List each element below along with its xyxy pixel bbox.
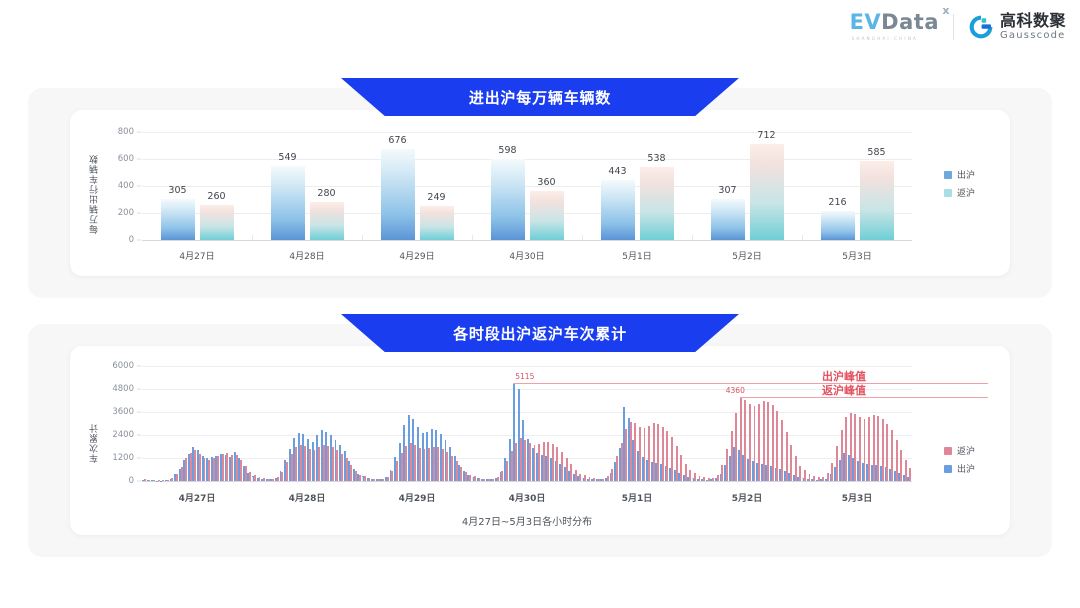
chart2-bar-back-14 (208, 460, 210, 481)
chart2-bar-back-119 (689, 470, 691, 481)
chart2-bar-back-77 (497, 477, 499, 481)
chart2-bar-back-71 (469, 475, 471, 481)
chart2-ytick-0: 0 (102, 476, 134, 486)
chart2-bar-back-63 (433, 447, 435, 482)
chart2-slot-back-39 (323, 366, 325, 481)
chart2-slot-back-45 (350, 366, 352, 481)
chart2-slot-back-7 (176, 366, 178, 481)
chart2-slot-back-29 (277, 366, 279, 481)
chart2-bar-back-147 (818, 477, 820, 481)
chart2-bar-back-155 (854, 414, 856, 481)
chart2-bar-back-167 (909, 468, 911, 481)
chart1-xlabel-4: 5月1日 (622, 249, 651, 262)
chart1-barvalue-出沪-4月28日: 549 (278, 152, 296, 163)
chart2-slot-back-71 (469, 366, 471, 481)
chart2-slot-back-4 (162, 366, 164, 481)
chart1-bar-group-4-1 (640, 132, 674, 240)
chart2-bar-back-152 (841, 430, 843, 481)
chart2-slot-back-80 (511, 366, 513, 481)
chart2-bar-back-141 (790, 445, 792, 481)
chart2-bar-back-86 (538, 444, 540, 481)
chart2-slot-back-56 (401, 366, 403, 481)
chart2-slot-back-73 (479, 366, 481, 481)
chart2-bar-back-50 (373, 479, 375, 481)
chart2-slot-back-9 (185, 366, 187, 481)
chart2-slot-back-23 (249, 366, 251, 481)
chart1-xlabel-6: 5月3日 (842, 249, 871, 262)
banner-title-2: 各时段出沪返沪车次累计 (453, 323, 627, 344)
chart1-xsep-6 (802, 235, 803, 240)
chart2-slot-back-24 (254, 366, 256, 481)
chart2-legend-label-出沪: 出沪 (957, 462, 975, 475)
chart1-legend-item-返沪[interactable]: 返沪 (944, 186, 975, 199)
chart1-bar-group-0-1 (200, 132, 234, 240)
chart2-slot-back-51 (378, 366, 380, 481)
chart2-bar-back-101 (607, 476, 609, 481)
chart2-bar-back-15 (213, 458, 215, 481)
chart2-bar-back-146 (813, 476, 815, 481)
chart2-ytick-mark-4800 (137, 389, 141, 390)
chart2-bar-back-68 (456, 461, 458, 481)
chart2-bar-back-139 (781, 420, 783, 481)
chart2-slot-back-14 (208, 366, 210, 481)
chart1-legend-swatch-出沪 (944, 171, 952, 179)
chart2-bar-back-136 (767, 402, 769, 481)
chart2-slot-back-49 (369, 366, 371, 481)
evdata-prefix: EV (850, 10, 882, 34)
chart2-bar-back-82 (520, 438, 522, 481)
chart2-bar-back-28 (272, 479, 274, 481)
chart2-bar-back-73 (479, 478, 481, 481)
chart2-xlabel-1: 4月28日 (289, 491, 326, 504)
chart2-bar-back-165 (900, 450, 902, 481)
chart1-bar-返沪-5月2日 (750, 144, 784, 240)
chart2-bar-back-111 (653, 423, 655, 481)
chart2-bar-back-130 (740, 397, 742, 481)
chart2-bar-back-104 (621, 443, 623, 481)
chart2-bar-back-78 (501, 471, 503, 481)
chart2-bar-back-18 (226, 453, 228, 481)
chart2-bar-back-8 (181, 467, 183, 481)
chart2-bar-back-13 (204, 458, 206, 481)
chart2-bar-back-138 (776, 411, 778, 481)
chart2-bar-back-108 (639, 427, 641, 481)
chart1-bar-group-4-0 (601, 132, 635, 240)
chart2-bar-back-39 (323, 445, 325, 481)
chart2-slot-back-37 (314, 366, 316, 481)
chart2-bar-back-40 (327, 446, 329, 481)
chart2-bar-back-99 (598, 479, 600, 481)
chart1-ytick-200: 200 (106, 208, 134, 218)
chart2-slot-back-8 (181, 366, 183, 481)
chart2-bar-back-132 (749, 404, 751, 481)
chart2-legend-item-出沪[interactable]: 出沪 (944, 462, 975, 475)
chart2-bar-back-123 (708, 478, 710, 481)
chart2-bar-back-89 (552, 444, 554, 481)
chart2-bar-back-51 (378, 479, 380, 481)
chart2-slot-back-22 (245, 366, 247, 481)
chart2-slot-back-11 (194, 366, 196, 481)
chart2-bar-back-87 (543, 442, 545, 481)
chart2-slot-back-26 (263, 366, 265, 481)
chart1-bar-group-2-0 (381, 132, 415, 240)
chart1-barvalue-返沪-5月1日: 538 (647, 153, 665, 164)
chart2-bar-back-46 (355, 471, 357, 481)
chart1-xsep-3 (472, 235, 473, 240)
chart1-bar-出沪-4月28日 (271, 166, 305, 240)
chart2-bar-back-58 (410, 443, 412, 481)
chart2-bar-back-2 (153, 480, 155, 481)
chart2-bar-back-160 (877, 416, 879, 481)
chart1-barvalue-出沪-4月27日: 305 (168, 185, 186, 196)
chart2-slot-back-32 (291, 366, 293, 481)
chart2-ytick-3600: 3600 (102, 407, 134, 417)
chart1-bar-出沪-5月3日 (821, 211, 855, 240)
chart2-slot-back-57 (405, 366, 407, 481)
chart2-bar-back-20 (236, 455, 238, 481)
chart2-bar-back-6 (171, 478, 173, 481)
chart1-barvalue-返沪-4月29日: 249 (427, 192, 445, 203)
gausscode-cn: 高科数聚 (1000, 13, 1066, 29)
chart2-slot-back-25 (259, 366, 261, 481)
chart2-bar-back-80 (511, 451, 513, 481)
chart2-bar-back-5 (167, 480, 169, 481)
chart1-xsep-5 (692, 235, 693, 240)
chart1-ylabel: 每万辆出行车辆数 (88, 138, 101, 234)
chart2-bar-back-9 (185, 458, 187, 481)
chart2-ytick-mark-2400 (137, 435, 141, 436)
chart1-gridline-400 (142, 186, 912, 187)
chart2-bar-back-43 (341, 454, 343, 481)
chart2-peakvalue-out: 5115 (515, 372, 534, 381)
chart2-ytick-1200: 1200 (102, 453, 134, 463)
chart2-bar-back-37 (314, 450, 316, 481)
chart2-bar-back-129 (735, 413, 737, 481)
chart2-bar-back-109 (644, 428, 646, 481)
chart2-bar-back-163 (891, 430, 893, 481)
chart2-bar-back-142 (795, 456, 797, 481)
chart2-slot-back-28 (272, 366, 274, 481)
chart2-bar-back-32 (291, 454, 293, 481)
chart2-bar-back-93 (570, 464, 572, 481)
chart1-bar-返沪-4月29日 (420, 206, 454, 240)
evdata-wordmark: EVDatax (850, 12, 939, 33)
chart2-slot-back-59 (414, 366, 416, 481)
evdata-superscript: x (942, 5, 950, 16)
chart1-barvalue-出沪-4月30日: 598 (498, 145, 516, 156)
chart2-xlabel-0: 4月27日 (179, 491, 216, 504)
chart2-bar-back-96 (584, 475, 586, 481)
chart2-bar-back-114 (666, 431, 668, 481)
chart2-bar-back-161 (882, 419, 884, 481)
chart2-bar-back-69 (460, 467, 462, 481)
chart2-slot-back-77 (497, 366, 499, 481)
gausscode-logo: 高科数聚 Gausscode (968, 13, 1066, 41)
chart1-bar-返沪-4月30日 (530, 191, 564, 240)
chart1-ytick-mark-0 (137, 240, 141, 241)
chart1-bar-出沪-4月27日 (161, 199, 195, 240)
chart2-bar-back-164 (896, 440, 898, 481)
chart2-bar-back-22 (245, 466, 247, 481)
chart2-ytick-mark-6000 (137, 366, 141, 367)
chart2-bar-back-57 (405, 446, 407, 481)
chart2-bar-back-144 (804, 470, 806, 481)
chart2-bar-back-151 (836, 446, 838, 481)
chart2-xcaption: 4月27日~5月3日各小时分布 (462, 513, 592, 528)
chart1-barvalue-出沪-4月29日: 676 (388, 135, 406, 146)
chart2-bar-back-47 (359, 475, 361, 481)
chart2-bar-back-125 (717, 475, 719, 481)
chart2-bar-back-143 (799, 466, 801, 481)
chart2-bar-back-4 (162, 480, 164, 481)
chart2-bar-back-121 (699, 476, 701, 481)
chart2-bar-back-83 (524, 440, 526, 481)
chart2-bar-back-117 (680, 455, 682, 481)
chart2-bar-back-107 (634, 423, 636, 481)
chart2-slot-back-58 (410, 366, 412, 481)
chart2-slot-back-48 (364, 366, 366, 481)
chart2-slot-back-30 (281, 366, 283, 481)
chart2-bar-back-11 (194, 450, 196, 481)
chart2-bar-back-79 (506, 461, 508, 481)
chart1-bar-group-2-1 (420, 132, 454, 240)
chart2-bar-back-70 (465, 472, 467, 481)
chart2-xlabel-2: 4月29日 (399, 491, 436, 504)
chart2-bar-back-25 (259, 477, 261, 481)
gausscode-text: 高科数聚 Gausscode (1000, 13, 1066, 41)
chart2-slot-back-69 (460, 366, 462, 481)
chart2-bar-back-94 (575, 470, 577, 481)
chart2-slot-back-18 (226, 366, 228, 481)
chart1-legend: 出沪返沪 (944, 168, 975, 199)
chart2-bar-back-91 (561, 452, 563, 481)
chart2-bar-back-162 (886, 424, 888, 482)
evdata-logo: EVDatax SHANGHAI CHINA (850, 12, 939, 41)
chart2-bar-back-140 (786, 432, 788, 481)
chart2-slot-back-67 (451, 366, 453, 481)
chart2-xlabel-5: 5月2日 (732, 491, 763, 504)
chart2-bar-back-12 (199, 454, 201, 481)
chart2-bar-back-53 (387, 477, 389, 481)
chart2-bar-back-74 (483, 479, 485, 481)
chart2-slot-back-31 (286, 366, 288, 481)
chart2-bar-back-45 (350, 465, 352, 481)
chart2-slot-back-46 (355, 366, 357, 481)
chart1-bar-group-1-0 (271, 132, 305, 240)
chart2-bar-back-100 (602, 479, 604, 481)
chart2-slot-back-17 (222, 366, 224, 481)
chart2-ylabel: 车次累计 (88, 384, 101, 463)
chart2-bar-back-29 (277, 477, 279, 481)
chart2-slot-back-42 (336, 366, 338, 481)
chart2-slot-back-38 (318, 366, 320, 481)
chart2-bar-back-55 (396, 461, 398, 481)
panel-vehicle-counts: 每万辆出行车辆数02004006008004月27日3052604月28日549… (28, 88, 1052, 298)
chart2-slot-back-63 (433, 366, 435, 481)
chart1-barvalue-返沪-5月2日: 712 (757, 130, 775, 141)
chart2-xlabel-4: 5月1日 (622, 491, 653, 504)
chart2-slot-back-19 (231, 366, 233, 481)
chart2-slot-back-16 (217, 366, 219, 481)
chart1-bar-出沪-5月2日 (711, 199, 745, 240)
chart2-bar-back-145 (809, 474, 811, 481)
chart2-slot-back-21 (240, 366, 242, 481)
chart1-xsep-4 (582, 235, 583, 240)
chart2-xsep-5 (692, 477, 693, 481)
chart2-axis-x (142, 481, 912, 482)
chart2-xlabel-6: 5月3日 (842, 491, 873, 504)
chart2-legend-swatch-出沪 (944, 465, 952, 473)
chart2-bar-back-126 (721, 465, 723, 481)
chart2-slot-back-65 (442, 366, 444, 481)
chart2-bar-back-41 (332, 447, 334, 481)
chart2-slot-back-13 (204, 366, 206, 481)
chart2-legend-swatch-返沪 (944, 447, 952, 455)
chart2-bar-back-102 (611, 469, 613, 481)
chart2-bar-back-33 (295, 447, 297, 481)
chart1-ytick-400: 400 (106, 181, 134, 191)
chart2-slot-back-33 (295, 366, 297, 481)
chart1-bar-group-5-1 (750, 132, 784, 240)
chart2-bar-back-110 (648, 426, 650, 481)
chart2-bar-back-19 (231, 455, 233, 481)
chart2-bar-back-60 (419, 448, 421, 481)
chart2-slot-back-1 (149, 366, 151, 481)
chart2-bar-back-24 (254, 475, 256, 481)
chart1-xsep-1 (252, 235, 253, 240)
chart1-barvalue-返沪-5月3日: 585 (867, 147, 885, 158)
dashboard-root: EVDatax SHANGHAI CHINA 高科数聚 Gausscode 每万… (0, 0, 1080, 608)
chart2-ytick-4800: 4800 (102, 384, 134, 394)
chart2-xsep-6 (802, 477, 803, 481)
chart2-bar-back-120 (694, 473, 696, 481)
chart1-ytick-0: 0 (106, 235, 134, 245)
chart1-barvalue-出沪-5月3日: 216 (828, 197, 846, 208)
chart2-bar-back-131 (744, 400, 746, 481)
chart1-gridline-600 (142, 159, 912, 160)
chart2-bar-back-66 (446, 452, 448, 481)
chart2-bar-back-52 (382, 479, 384, 481)
chart2-bar-back-103 (616, 456, 618, 481)
chart2-bar-back-64 (437, 447, 439, 481)
chart1-bar-返沪-4月28日 (310, 202, 344, 240)
evdata-subtitle: SHANGHAI CHINA (852, 36, 918, 41)
chart1-legend-swatch-返沪 (944, 189, 952, 197)
chart2-bar-back-133 (754, 406, 756, 481)
chart1-barvalue-出沪-5月2日: 307 (718, 185, 736, 196)
chart1-barvalue-出沪-5月1日: 443 (608, 166, 626, 177)
chart2-bar-back-115 (671, 437, 673, 481)
chart1-gridline-200 (142, 213, 912, 214)
chart2-bar-back-36 (309, 449, 311, 481)
chart2-bar-back-54 (391, 471, 393, 481)
chart2-slot-back-35 (304, 366, 306, 481)
chart2-bar-back-135 (763, 401, 765, 481)
chart2-slot-back-66 (446, 366, 448, 481)
chart2-bar-back-34 (300, 445, 302, 481)
gausscode-en: Gausscode (1000, 31, 1066, 41)
chart2-ytick-6000: 6000 (102, 361, 134, 371)
chart1-bar-group-6-0 (821, 132, 855, 240)
chart2-slot-back-34 (300, 366, 302, 481)
chart2-bar-back-92 (566, 458, 568, 481)
chart2-bar-back-65 (442, 449, 444, 481)
chart1-ytick-mark-600 (137, 159, 141, 160)
chart1-ytick-800: 800 (106, 127, 134, 137)
chart2-bar-back-76 (492, 479, 494, 481)
chart2-bar-back-84 (529, 443, 531, 481)
chart2-bar-back-81 (515, 443, 517, 481)
chart2-bar-back-158 (868, 417, 870, 481)
chart2-slot-back-36 (309, 366, 311, 481)
chart1-xlabel-2: 4月29日 (399, 249, 434, 262)
banner-chart-2: 各时段出沪返沪车次累计 (341, 314, 739, 352)
chart2-ytick-mark-1200 (137, 458, 141, 459)
chart2-bar-back-134 (758, 404, 760, 481)
chart2-slot-back-60 (419, 366, 421, 481)
chart2-bar-back-112 (657, 424, 659, 481)
chart1-barvalue-返沪-4月27日: 260 (207, 191, 225, 202)
chart2-bar-back-75 (488, 479, 490, 481)
chart2-slot-back-6 (171, 366, 173, 481)
banner-chart-1: 进出沪每万辆车辆数 (341, 78, 739, 116)
chart2-slot-back-41 (332, 366, 334, 481)
chart2-bar-back-124 (712, 478, 714, 481)
chart2-ytick-mark-0 (137, 481, 141, 482)
chart1-ytick-600: 600 (106, 154, 134, 164)
chart2-bar-back-30 (281, 472, 283, 481)
chart2-slot-back-20 (236, 366, 238, 481)
chart1-legend-item-出沪[interactable]: 出沪 (944, 168, 975, 181)
chart2-bar-back-56 (401, 453, 403, 481)
chart1-ytick-mark-400 (137, 186, 141, 187)
chart1-bar-返沪-5月1日 (640, 167, 674, 240)
chart2-ytick-2400: 2400 (102, 430, 134, 440)
chart2-bar-back-62 (428, 448, 430, 481)
chart2-bar-back-44 (346, 458, 348, 481)
chart2-bar-back-10 (190, 453, 192, 481)
chart2-slot-back-76 (492, 366, 494, 481)
chart2-slot-back-47 (359, 366, 361, 481)
chart2-bar-back-38 (318, 447, 320, 481)
chart2-legend-item-返沪[interactable]: 返沪 (944, 444, 975, 457)
chart1-bar-出沪-4月30日 (491, 159, 525, 240)
chart2-bar-back-156 (859, 417, 861, 481)
chart2-bar-back-88 (547, 442, 549, 481)
chart2-bar-back-149 (827, 473, 829, 481)
chart2-bar-back-122 (703, 477, 705, 481)
chart1-xlabel-0: 4月27日 (179, 249, 214, 262)
chart2-ytick-mark-3600 (137, 412, 141, 413)
chart2-slot-back-43 (341, 366, 343, 481)
chart2-peaklabel-back: 返沪峰值 (822, 382, 866, 398)
chart2-bar-back-95 (579, 474, 581, 481)
chart2-bar-back-42 (336, 450, 338, 481)
chart2-slot-back-64 (437, 366, 439, 481)
chart1-xsep-2 (362, 235, 363, 240)
chart2-bar-back-72 (474, 476, 476, 481)
chart2-bar-back-49 (369, 478, 371, 481)
chart1-bar-返沪-4月27日 (200, 205, 234, 240)
chart2-slot-back-79 (506, 366, 508, 481)
chart1-xlabel-5: 5月2日 (732, 249, 761, 262)
chart2-slot-back-54 (391, 366, 393, 481)
chart2-bar-back-153 (845, 417, 847, 481)
chart2-bar-back-98 (593, 478, 595, 481)
chart2-slot-back-2 (153, 366, 155, 481)
chart2-bar-back-67 (451, 456, 453, 481)
chart1-xlabel-1: 4月28日 (289, 249, 324, 262)
